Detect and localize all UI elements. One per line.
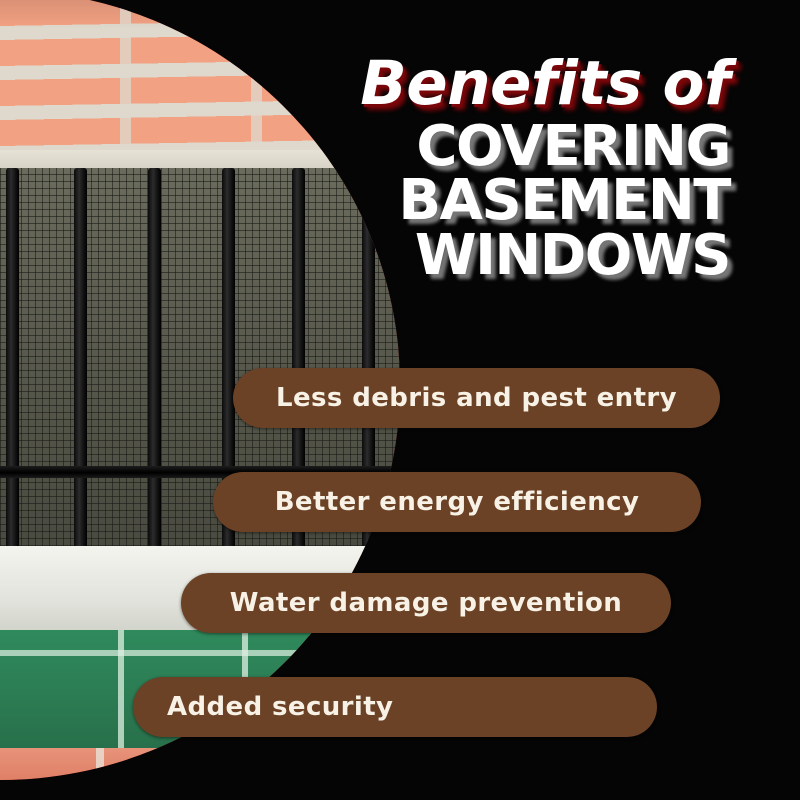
benefit-pill-3-label: Water damage prevention xyxy=(230,588,622,618)
benefit-pill-1-label: Less debris and pest entry xyxy=(276,383,677,413)
headline-line-2: BASEMENT xyxy=(340,174,730,228)
benefit-pill-2[interactable]: Better energy efficiency xyxy=(213,472,701,532)
headline-line-3: WINDOWS xyxy=(340,229,730,283)
metal-bar-icon xyxy=(148,168,161,558)
benefit-pill-4[interactable]: Added security xyxy=(133,677,657,737)
benefit-pill-1[interactable]: Less debris and pest entry xyxy=(233,368,720,428)
poster-canvas: Benefits of COVERING BASEMENT WINDOWS Le… xyxy=(0,0,800,800)
headline-script-line: Benefits of xyxy=(340,52,730,116)
terracotta-floor-region xyxy=(0,748,400,780)
benefit-pill-2-label: Better energy efficiency xyxy=(275,487,640,517)
metal-bar-icon xyxy=(74,168,87,558)
headline-line-1: COVERING xyxy=(340,120,730,174)
headline-block: Benefits of COVERING BASEMENT WINDOWS xyxy=(340,52,730,283)
metal-bar-icon xyxy=(6,168,19,558)
benefit-pill-3[interactable]: Water damage prevention xyxy=(181,573,671,633)
benefit-pill-4-label: Added security xyxy=(167,692,393,722)
